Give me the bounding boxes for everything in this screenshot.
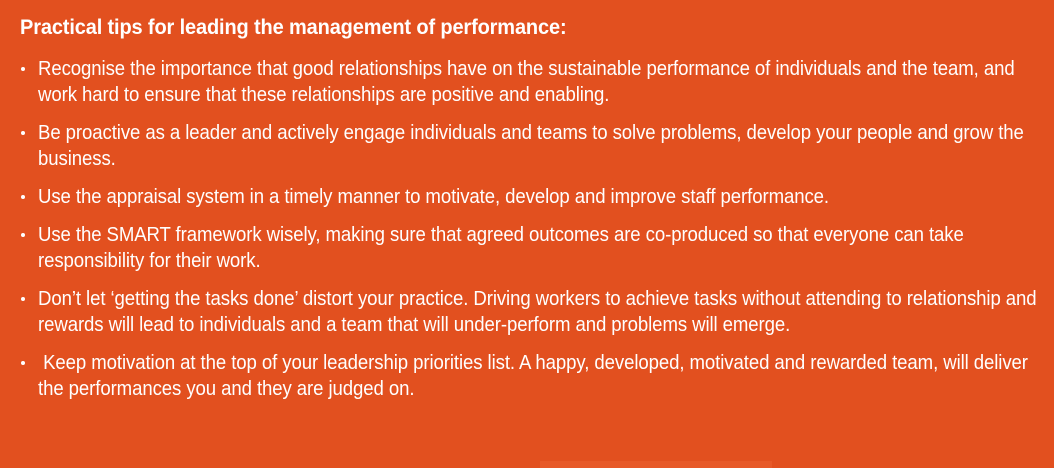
- bottom-accent-band: [540, 461, 772, 468]
- list-item: Recognise the importance that good relat…: [20, 56, 1042, 108]
- list-item: Use the appraisal system in a timely man…: [20, 184, 1042, 210]
- list-item: Be proactive as a leader and actively en…: [20, 120, 1042, 172]
- list-item: Don’t let ‘getting the tasks done’ disto…: [20, 286, 1042, 338]
- bullet-dot-icon: [21, 67, 25, 71]
- list-item-text: Use the appraisal system in a timely man…: [38, 184, 1042, 210]
- list-item-text: Use the SMART framework wisely, making s…: [38, 222, 1042, 274]
- list-item-text: Keep motivation at the top of your leade…: [38, 350, 1042, 402]
- performance-tips-slide: Practical tips for leading the managemen…: [0, 0, 1054, 468]
- list-item-text: Be proactive as a leader and actively en…: [38, 120, 1042, 172]
- list-item-text: Don’t let ‘getting the tasks done’ disto…: [38, 286, 1042, 338]
- practical-tips-list: Recognise the importance that good relat…: [20, 56, 1042, 402]
- list-item: Keep motivation at the top of your leade…: [20, 350, 1042, 402]
- bullet-dot-icon: [21, 233, 25, 237]
- list-item: Use the SMART framework wisely, making s…: [20, 222, 1042, 274]
- page-title: Practical tips for leading the managemen…: [20, 14, 959, 40]
- bullet-dot-icon: [21, 131, 25, 135]
- list-item-text: Recognise the importance that good relat…: [38, 56, 1042, 108]
- bullet-dot-icon: [21, 297, 25, 301]
- bullet-dot-icon: [21, 361, 25, 365]
- bullet-dot-icon: [21, 195, 25, 199]
